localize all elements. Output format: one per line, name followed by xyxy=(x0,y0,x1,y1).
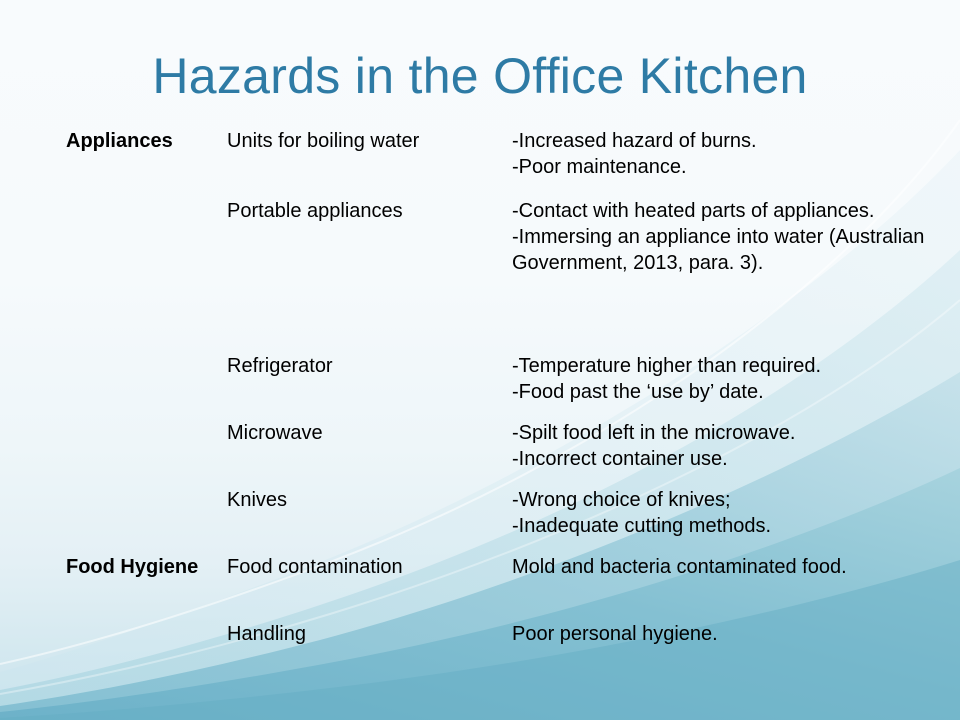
row-item: Handling xyxy=(227,621,502,647)
presentation-slide: Hazards in the Office Kitchen Appliances… xyxy=(0,0,960,720)
row-hazards: -Increased hazard of burns. -Poor mainte… xyxy=(512,128,932,180)
row-item: Microwave xyxy=(227,420,502,446)
page-title: Hazards in the Office Kitchen xyxy=(0,48,960,104)
hazard-line: -Poor maintenance. xyxy=(512,154,932,180)
row-item: Portable appliances xyxy=(227,198,502,224)
row-item: Refrigerator xyxy=(227,353,502,379)
hazard-line: Poor personal hygiene. xyxy=(512,621,932,647)
row-item: Knives xyxy=(227,487,502,513)
row-hazards: Poor personal hygiene. xyxy=(512,621,932,647)
slide-content: Hazards in the Office Kitchen Appliances… xyxy=(0,0,960,720)
hazard-line: -Food past the ‘use by’ date. xyxy=(512,379,932,405)
row-hazards: -Contact with heated parts of appliances… xyxy=(512,198,932,276)
hazard-line: Mold and bacteria contaminated food. xyxy=(512,554,932,580)
row-hazards: Mold and bacteria contaminated food. xyxy=(512,554,932,580)
hazard-line: -Contact with heated parts of appliances… xyxy=(512,198,932,224)
row-category: Food Hygiene xyxy=(66,554,216,580)
hazard-line: -Spilt food left in the microwave. xyxy=(512,420,932,446)
row-hazards: -Spilt food left in the microwave. -Inco… xyxy=(512,420,932,472)
hazard-line: -Immersing an appliance into water (Aust… xyxy=(512,224,932,276)
hazard-line: -Wrong choice of knives; xyxy=(512,487,932,513)
hazard-line: -Incorrect container use. xyxy=(512,446,932,472)
row-item: Units for boiling water xyxy=(227,128,502,154)
row-hazards: -Temperature higher than required. -Food… xyxy=(512,353,932,405)
row-hazards: -Wrong choice of knives; -Inadequate cut… xyxy=(512,487,932,539)
hazard-line: -Increased hazard of burns. xyxy=(512,128,932,154)
hazard-line: -Inadequate cutting methods. xyxy=(512,513,932,539)
row-item: Food contamination xyxy=(227,554,502,580)
row-category: Appliances xyxy=(66,128,216,154)
hazard-line: -Temperature higher than required. xyxy=(512,353,932,379)
